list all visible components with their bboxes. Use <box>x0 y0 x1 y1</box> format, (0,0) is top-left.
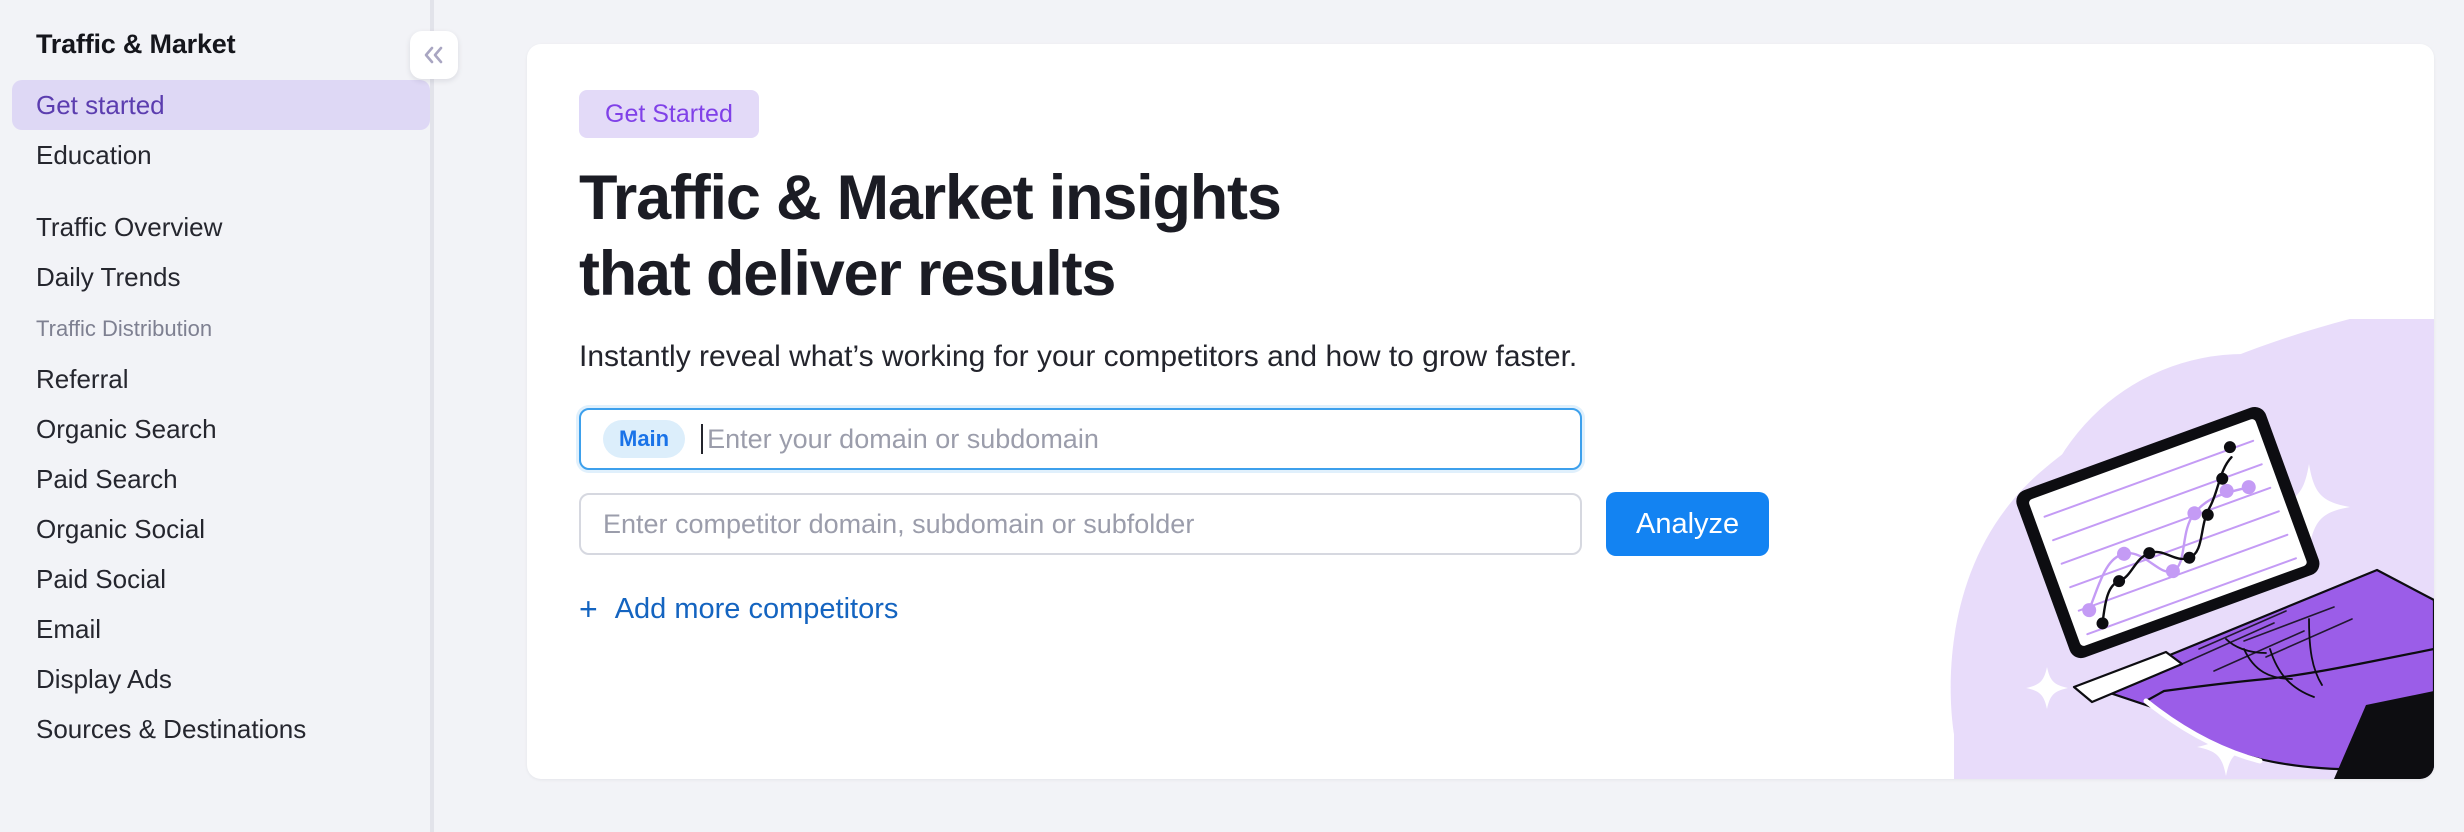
sidebar-item-paid-search[interactable]: Paid Search <box>12 454 430 504</box>
analyze-button[interactable]: Analyze <box>1606 492 1769 556</box>
sidebar-item-label: Education <box>36 140 152 170</box>
competitor-domain-row: Enter competitor domain, subdomain or su… <box>579 492 2434 556</box>
sidebar-item-organic-search[interactable]: Organic Search <box>12 404 430 454</box>
sidebar-item-organic-social[interactable]: Organic Social <box>12 504 430 554</box>
sidebar-item-label: Paid Social <box>36 564 166 594</box>
page-subtitle: Instantly reveal what’s working for your… <box>579 338 2434 376</box>
sidebar-item-label: Get started <box>36 90 165 120</box>
main-domain-input[interactable]: Main Enter your domain or subdomain <box>579 408 1582 470</box>
sidebar-item-label: Display Ads <box>36 664 172 694</box>
plus-icon: + <box>579 593 598 625</box>
hero-content: Get Started Traffic & Market insights th… <box>527 44 2434 626</box>
sidebar-item-email[interactable]: Email <box>12 604 430 654</box>
sidebar: Traffic & Market Get started Education T… <box>0 0 430 832</box>
sidebar-item-traffic-overview[interactable]: Traffic Overview <box>12 202 430 252</box>
text-caret <box>701 424 703 454</box>
sidebar-item-daily-trends[interactable]: Daily Trends <box>12 252 430 302</box>
sidebar-collapse-button[interactable] <box>410 31 458 79</box>
page-title-line-2: that deliver results <box>579 239 1115 309</box>
sidebar-divider <box>430 0 434 832</box>
sidebar-item-paid-social[interactable]: Paid Social <box>12 554 430 604</box>
add-more-competitors-label: Add more competitors <box>615 592 899 626</box>
sidebar-item-label: Daily Trends <box>36 262 181 292</box>
sidebar-item-education[interactable]: Education <box>12 130 430 180</box>
hero-card: Get Started Traffic & Market insights th… <box>527 44 2434 779</box>
app-root: Traffic & Market Get started Education T… <box>0 0 2464 832</box>
sidebar-item-referral[interactable]: Referral <box>12 354 430 404</box>
hero-badge-get-started: Get Started <box>579 90 759 138</box>
sidebar-gap <box>36 180 404 202</box>
sidebar-item-label: Referral <box>36 364 128 394</box>
main-content: Get Started Traffic & Market insights th… <box>430 0 2464 832</box>
sidebar-item-label: Organic Social <box>36 514 205 544</box>
sidebar-item-label: Email <box>36 614 101 644</box>
sidebar-item-get-started[interactable]: Get started <box>12 80 430 130</box>
main-domain-placeholder: Enter your domain or subdomain <box>707 423 1099 455</box>
sidebar-title: Traffic & Market <box>36 28 404 60</box>
sidebar-item-sources-destinations[interactable]: Sources & Destinations <box>12 704 430 754</box>
sidebar-item-display-ads[interactable]: Display Ads <box>12 654 430 704</box>
page-title: Traffic & Market insights that deliver r… <box>579 160 2434 312</box>
page-title-line-1: Traffic & Market insights <box>579 163 1281 233</box>
sidebar-section-traffic-distribution: Traffic Distribution <box>12 308 430 350</box>
competitor-domain-placeholder: Enter competitor domain, subdomain or su… <box>603 508 1194 540</box>
sidebar-inner: Traffic & Market Get started Education T… <box>0 0 430 754</box>
main-badge: Main <box>603 420 685 458</box>
main-domain-row: Main Enter your domain or subdomain <box>579 408 2434 470</box>
chevrons-left-icon <box>421 44 447 66</box>
sidebar-item-label: Organic Search <box>36 414 217 444</box>
sidebar-item-label: Paid Search <box>36 464 178 494</box>
sidebar-item-label: Sources & Destinations <box>36 714 306 744</box>
competitor-domain-input[interactable]: Enter competitor domain, subdomain or su… <box>579 493 1582 555</box>
sidebar-item-label: Traffic Overview <box>36 212 222 242</box>
add-more-competitors-button[interactable]: + Add more competitors <box>579 592 898 626</box>
